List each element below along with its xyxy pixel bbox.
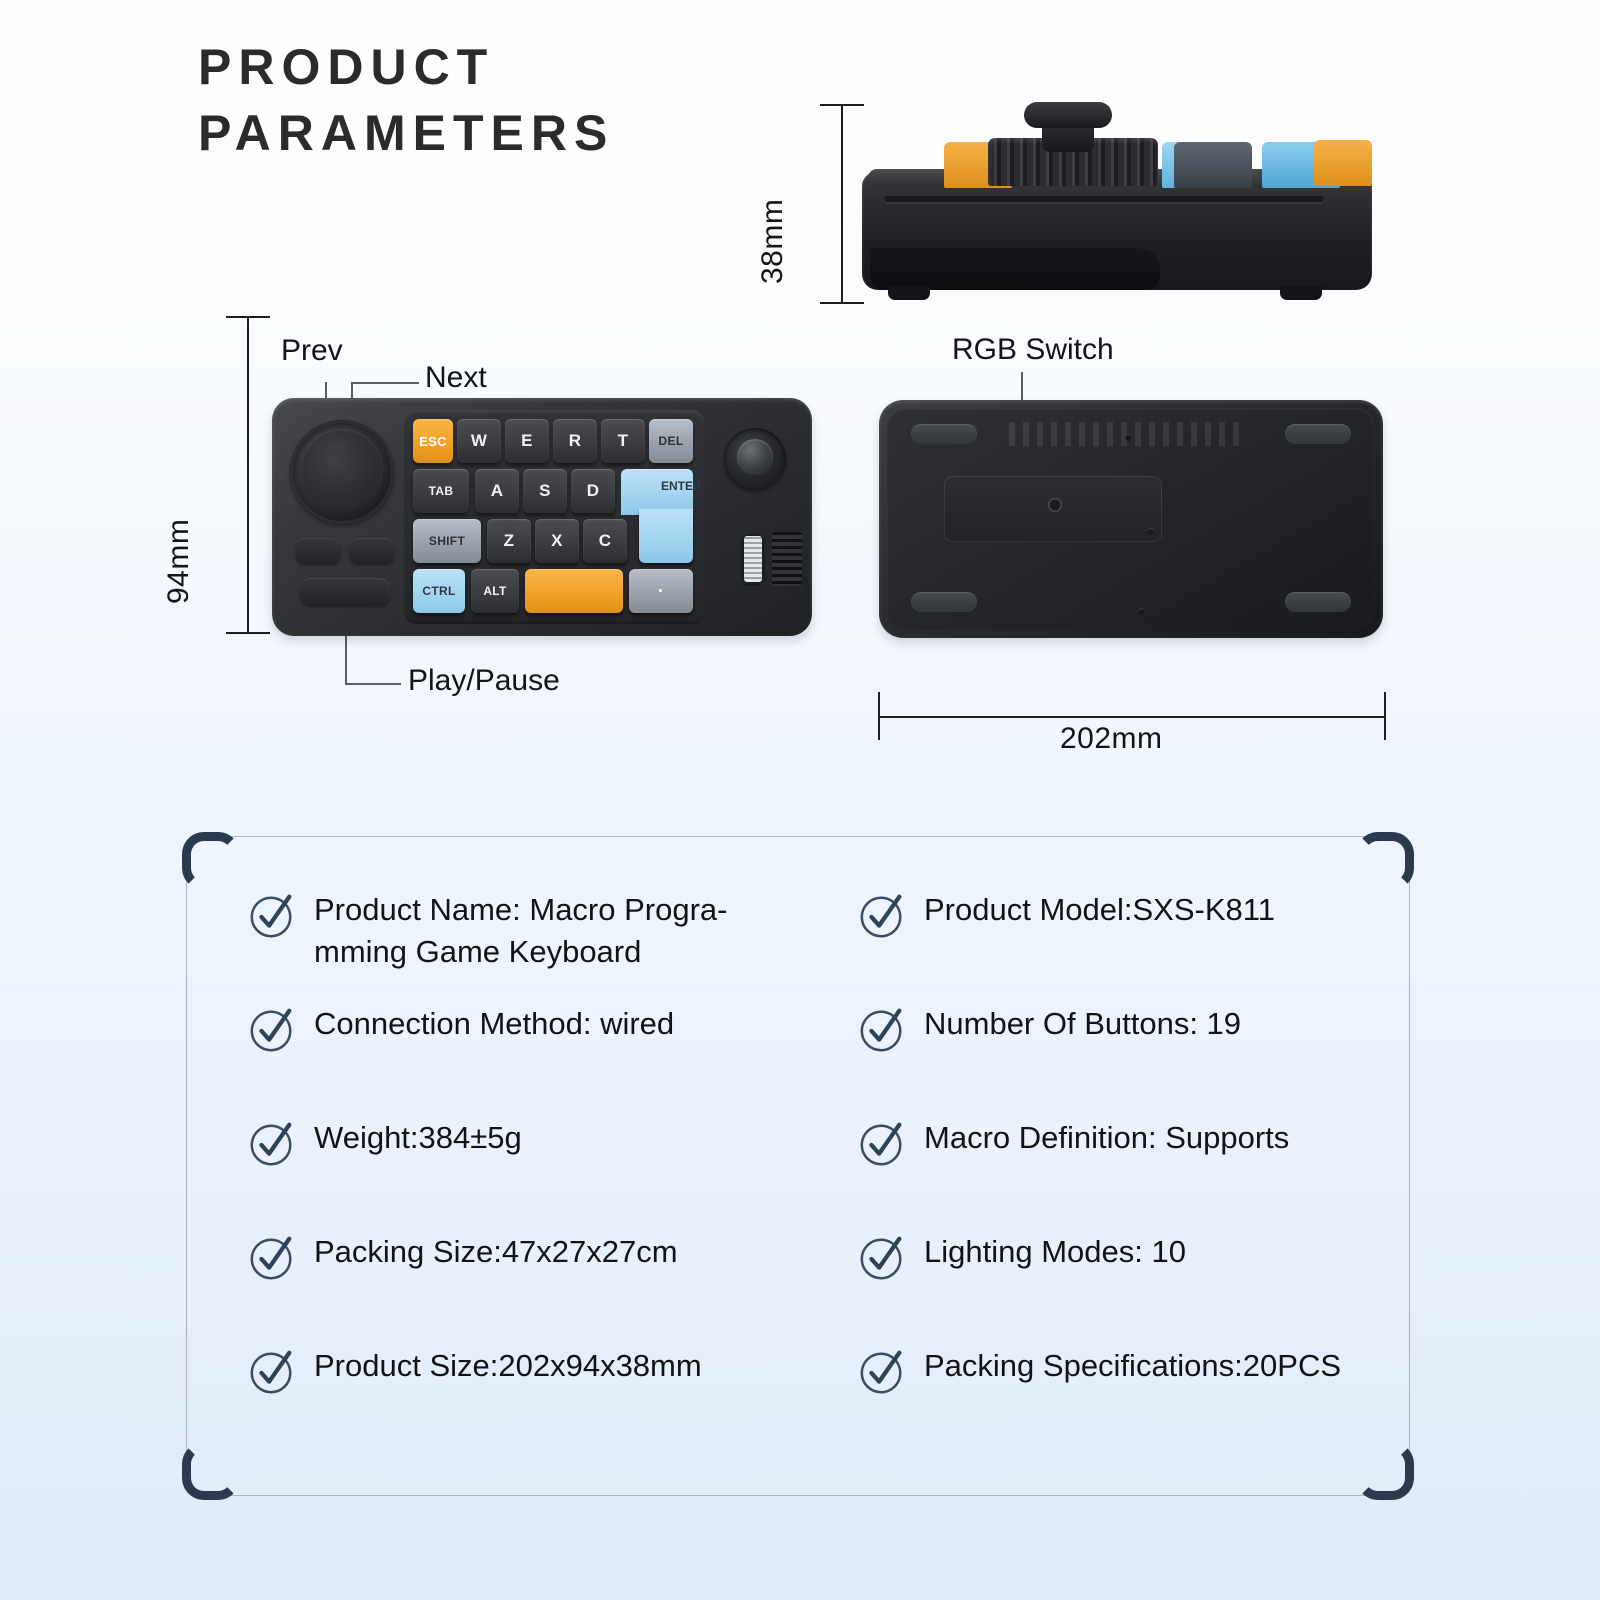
key-grid: ESC W E R T DEL TAB A S D ENTER SHIFT Z … [413, 419, 695, 615]
check-circle-icon [247, 1119, 297, 1169]
bottom-vent-slots [1001, 422, 1247, 446]
side-undercut [870, 248, 1160, 290]
key-dot[interactable]: · [629, 569, 693, 613]
screw-top [1125, 434, 1132, 441]
spec-list: Product Name: Macro Progra-mming Game Ke… [247, 889, 1357, 1459]
side-joystick-cap [1024, 102, 1112, 128]
spec-item-5: Macro Definition: Supports [857, 1117, 1357, 1169]
key-ctrl[interactable]: CTRL [413, 569, 465, 613]
key-s[interactable]: S [523, 469, 567, 513]
corner-accent-top-right [1356, 832, 1414, 890]
keyboard-side-view [862, 96, 1372, 312]
spec-text-0: Product Name: Macro Progra-mming Game Ke… [314, 889, 727, 973]
key-shift[interactable]: SHIFT [413, 519, 481, 563]
key-a[interactable]: A [475, 469, 519, 513]
scroll-wheel[interactable] [742, 534, 764, 584]
key-enter-label: ENTER [661, 479, 702, 493]
dim-line-vertical [841, 104, 843, 304]
dim-line-horizontal-202 [878, 716, 1386, 718]
keyboard-top-view: ESC W E R T DEL TAB A S D ENTER SHIFT Z … [272, 398, 812, 638]
callout-rgb-switch: RGB Switch [952, 333, 1114, 367]
spec-item-1: Product Model:SXS-K811 [857, 889, 1357, 941]
screw-middle [1147, 528, 1154, 535]
key-w[interactable]: W [457, 419, 501, 463]
key-d[interactable]: D [571, 469, 615, 513]
leader-play-horizontal [345, 683, 401, 685]
key-space[interactable] [525, 569, 623, 613]
check-circle-icon [857, 1119, 907, 1169]
callout-play-pause: Play/Pause [408, 664, 560, 698]
side-groove [884, 196, 1324, 202]
dim-tick-bottom-94 [226, 632, 270, 634]
page-title: PRODUCT PARAMETERS [198, 34, 614, 166]
foot-top-right [1285, 424, 1351, 444]
page-title-line-2: PARAMETERS [198, 100, 614, 166]
key-z[interactable]: Z [487, 519, 531, 563]
leader-next-horizontal [351, 382, 419, 384]
check-circle-icon [857, 1233, 907, 1283]
spec-text-2: Connection Method: wired [314, 1003, 674, 1045]
key-t[interactable]: T [601, 419, 645, 463]
play-pause-button[interactable] [300, 578, 390, 606]
rgb-switch-button[interactable] [1048, 498, 1062, 512]
spec-item-7: Lighting Modes: 10 [857, 1231, 1357, 1283]
check-circle-icon [857, 1347, 907, 1397]
foot-bottom-right [1285, 592, 1351, 612]
key-enter[interactable]: ENTER [621, 469, 693, 563]
foot-bottom-left [911, 592, 977, 612]
callout-next: Next [425, 361, 487, 395]
key-esc[interactable]: ESC [413, 419, 453, 463]
spec-text-4: Weight:384±5g [314, 1117, 522, 1159]
key-e[interactable]: E [505, 419, 549, 463]
side-vents [772, 532, 802, 586]
key-enter-lower [639, 509, 693, 563]
spec-text-1: Product Model:SXS-K811 [924, 889, 1275, 931]
spec-text-3: Number Of Buttons: 19 [924, 1003, 1241, 1045]
joystick[interactable] [724, 428, 786, 490]
key-r[interactable]: R [553, 419, 597, 463]
side-foot-left [888, 286, 930, 300]
dim-tick-bottom [820, 302, 864, 304]
keyboard-bottom-view [879, 400, 1383, 640]
dim-tick-right-202 [1384, 692, 1386, 740]
screw-bottom [1138, 608, 1145, 615]
rotary-knob[interactable] [290, 420, 394, 524]
spec-item-9: Packing Specifications:20PCS [857, 1345, 1357, 1397]
check-circle-icon [857, 891, 907, 941]
dim-label-94mm: 94mm [162, 519, 196, 604]
spec-item-6: Packing Size:47x27x27cm [247, 1231, 857, 1283]
key-tab[interactable]: TAB [413, 469, 469, 513]
corner-accent-bottom-right [1356, 1442, 1414, 1500]
check-circle-icon [857, 1005, 907, 1055]
key-x[interactable]: X [535, 519, 579, 563]
key-c[interactable]: C [583, 519, 627, 563]
check-circle-icon [247, 1233, 297, 1283]
dim-label-38mm: 38mm [756, 199, 790, 284]
corner-accent-bottom-left [182, 1442, 240, 1500]
key-del[interactable]: DEL [649, 419, 693, 463]
next-button[interactable] [350, 538, 394, 564]
spec-item-2: Connection Method: wired [247, 1003, 857, 1055]
check-circle-icon [247, 1005, 297, 1055]
corner-accent-top-left [182, 832, 240, 890]
callout-prev: Prev [281, 334, 343, 368]
spec-item-0: Product Name: Macro Progra-mming Game Ke… [247, 889, 857, 973]
spec-item-3: Number Of Buttons: 19 [857, 1003, 1357, 1055]
spec-item-4: Weight:384±5g [247, 1117, 857, 1169]
spec-text-9: Packing Specifications:20PCS [924, 1345, 1341, 1387]
spec-text-7: Lighting Modes: 10 [924, 1231, 1186, 1273]
side-keycap-orange-2 [1314, 140, 1372, 186]
spec-text-8: Product Size:202x94x38mm [314, 1345, 702, 1387]
check-circle-icon [247, 891, 297, 941]
check-circle-icon [247, 1347, 297, 1397]
side-keycap-gray [1174, 142, 1252, 188]
dim-label-202mm: 202mm [1060, 722, 1163, 756]
spec-text-6: Packing Size:47x27x27cm [314, 1231, 678, 1273]
page-title-line-1: PRODUCT [198, 34, 614, 100]
prev-button[interactable] [296, 538, 340, 564]
spec-text-5: Macro Definition: Supports [924, 1117, 1289, 1159]
spec-panel: Product Name: Macro Progra-mming Game Ke… [186, 836, 1410, 1496]
key-alt[interactable]: ALT [471, 569, 519, 613]
dim-line-vertical-94 [247, 316, 249, 634]
side-foot-right [1280, 286, 1322, 300]
spec-item-8: Product Size:202x94x38mm [247, 1345, 857, 1397]
foot-top-left [911, 424, 977, 444]
